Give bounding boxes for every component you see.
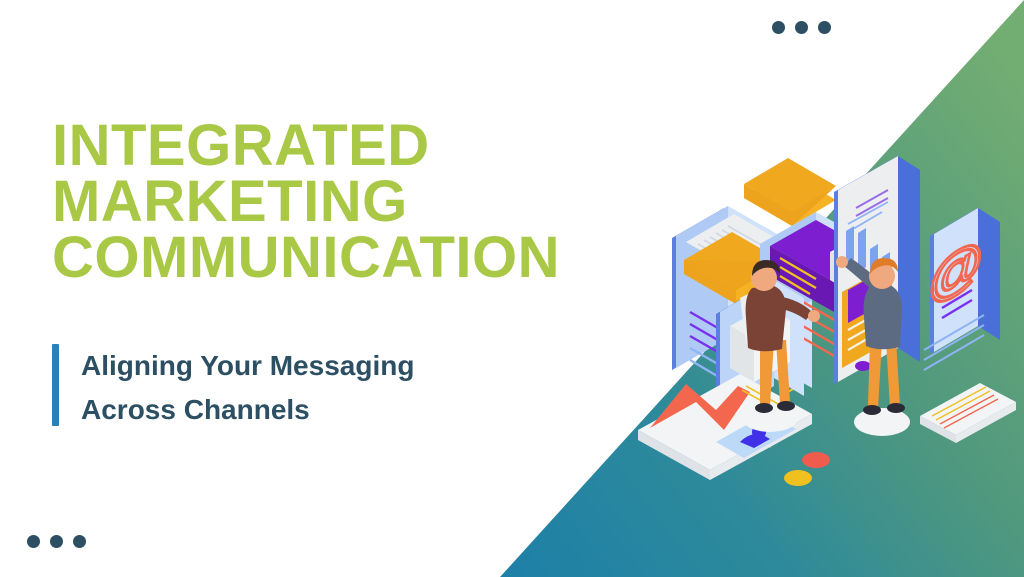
decorative-dots-top — [772, 21, 831, 34]
dot-icon — [772, 21, 785, 34]
at-symbol-card: @ — [924, 208, 1000, 370]
page-subtitle: Aligning Your Messaging Across Channels — [81, 344, 414, 432]
subtitle-block: Aligning Your Messaging Across Channels — [52, 344, 414, 432]
keyboard-card — [920, 383, 1016, 443]
dot-icon — [50, 535, 63, 548]
dot-icon — [818, 21, 831, 34]
color-discs — [784, 452, 830, 486]
dot-icon — [27, 535, 40, 548]
dot-icon — [73, 535, 86, 548]
title-block: INTEGRATED MARKETING COMMUNICATION — [52, 118, 652, 286]
accent-bar — [52, 344, 59, 426]
page-title: INTEGRATED MARKETING COMMUNICATION — [52, 118, 652, 286]
decorative-dots-bottom — [27, 535, 86, 548]
dot-icon — [795, 21, 808, 34]
isometric-marketing-illustration: @ — [620, 140, 1024, 540]
slide-canvas: INTEGRATED MARKETING COMMUNICATION Align… — [0, 0, 1024, 577]
